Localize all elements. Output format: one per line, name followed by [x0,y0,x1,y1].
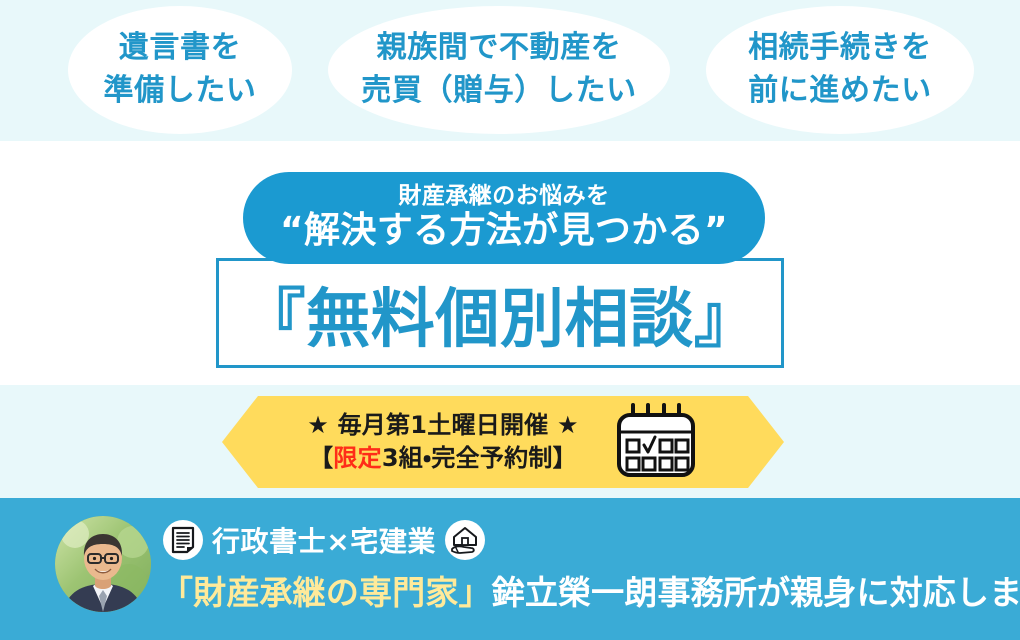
bubble-line-2: 準備したい [104,70,257,113]
calendar-icon [613,401,699,483]
footer-tagline: 「財産承継の専門家」鉾立榮一朗事務所が親身に対応します。 [160,564,1010,616]
event-line-2: 【限定3組・完全予約制】 [309,442,577,475]
bubble-line-1: 親族間で不動産を [377,27,622,70]
event-bracket-open: 【 [309,444,333,472]
bubble-will-preparation[interactable]: 遺言書を 準備したい [68,6,292,134]
document-icon [163,520,203,560]
bubble-inheritance-progress[interactable]: 相続手続きを 前に進めたい [706,6,974,134]
bubble-line-1: 遺言書を [119,27,241,70]
promo-banner: 遺言書を 準備したい 親族間で不動産を 売買（贈与）したい 相続手続きを 前に進… [0,0,1020,640]
event-limit-highlight: 限定 [333,444,381,472]
bubble-line-1: 相続手続きを [748,27,932,70]
hero-pill-line-2: “解決する方法が見つかる” [280,211,728,251]
footer-profession-label: 行政書士×宅建業 [212,520,436,560]
hero-title: 『無料個別相談』 [216,262,784,366]
bubble-line-2: 前に進めたい [748,70,932,113]
bubble-line-2: 売買（贈与）したい [361,70,636,113]
event-line-2-rest: 3組・完全予約制 [382,444,553,472]
bubble-family-realestate[interactable]: 親族間で不動産を 売買（贈与）したい [328,6,670,134]
event-banner: ★ 毎月第1土曜日開催 ★ 【限定3組・完全予約制】 [222,396,784,488]
footer-profession-row: 行政書士×宅建業 [163,516,485,564]
house-on-hand-icon [445,520,485,560]
footer-tagline-rest: 鉾立榮一朗事務所が親身に対応します。 [492,566,1020,614]
hero-pill-line-1: 財産承継のお悩みを [398,184,609,209]
hero-pill: 財産承継のお悩みを “解決する方法が見つかる” [243,172,765,264]
event-bracket-close: 】 [553,444,577,472]
event-text-block: ★ 毎月第1土曜日開催 ★ 【限定3組・完全予約制】 [307,409,579,475]
event-line-1: ★ 毎月第1土曜日開催 ★ [307,409,579,442]
avatar [55,516,151,612]
footer-tagline-quoted: 「財産承継の専門家」 [160,566,492,614]
